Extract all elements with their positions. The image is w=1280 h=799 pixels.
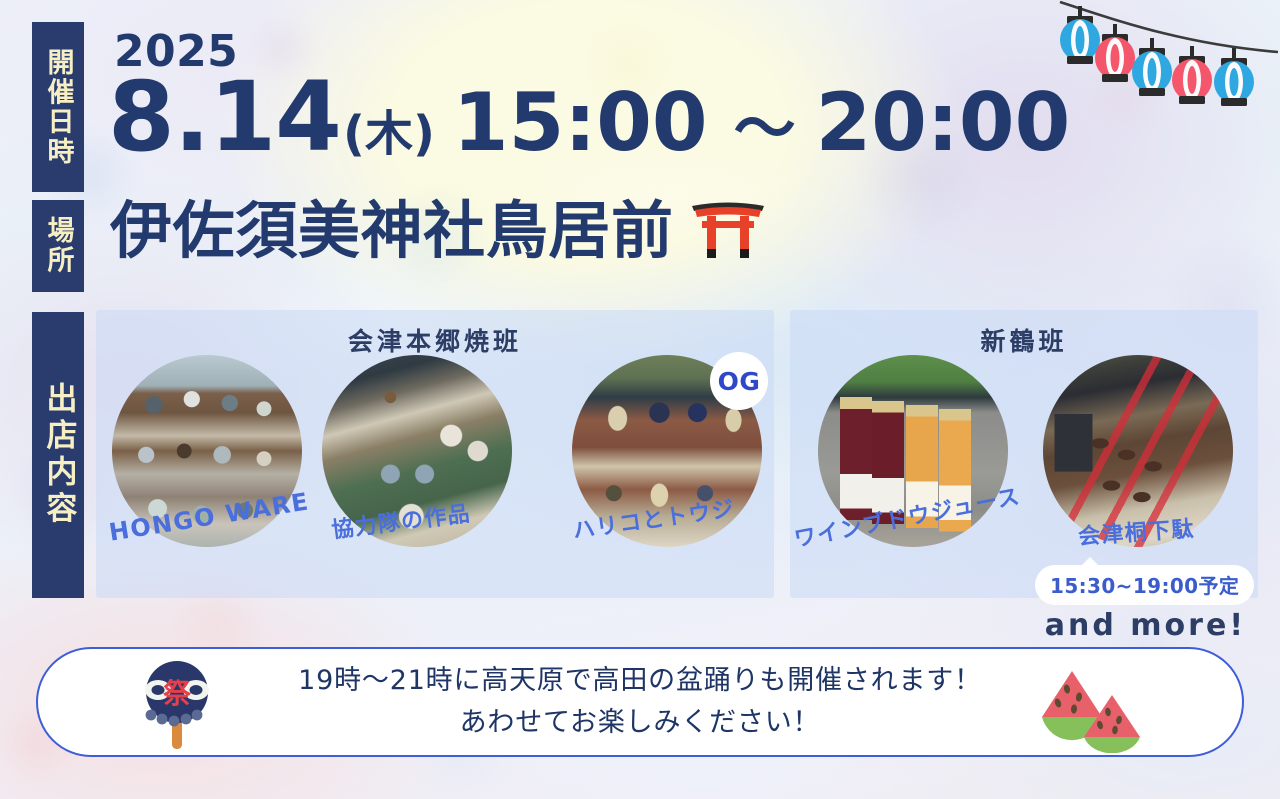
banner-message: 19時〜21時に高天原で高田の盆踊りも開催されます！ あわせてお楽しみください！	[298, 660, 982, 744]
uchiwa-fan-matsuri-icon: 祭	[134, 659, 220, 755]
svg-text:祭: 祭	[163, 677, 192, 710]
event-time-start: 15:00	[453, 83, 708, 163]
event-datetime-row: 8.14 (木) 15:00 〜 20:00	[108, 72, 1070, 163]
panel-title-niitsuru: 新鶴班	[790, 322, 1258, 358]
banner-line-1: 19時〜21時に高天原で高田の盆踊りも開催されます！	[298, 665, 982, 696]
label-vendors: 出店内容	[32, 312, 84, 598]
panel-title-hongo: 会津本郷焼班	[96, 322, 774, 358]
watermelon-slice-icon	[1036, 667, 1164, 757]
and-more-text: and more!	[1045, 608, 1246, 643]
torii-gate-icon	[690, 198, 766, 264]
event-poster: 開催日時 場所 出店内容 2025 8.14 (木) 15:00 〜 20:00…	[0, 0, 1280, 799]
label-datetime: 開催日時	[32, 22, 84, 192]
label-place: 場所	[32, 200, 84, 292]
vendor-time-badge: 15:30~19:00予定	[1035, 565, 1254, 605]
og-badge: OG	[710, 352, 768, 410]
event-place: 伊佐須美神社鳥居前	[110, 200, 674, 262]
event-date: 8.14	[108, 72, 341, 163]
event-day-of-week: (木)	[343, 110, 435, 158]
event-time-separator: 〜	[734, 98, 796, 160]
banner-line-2: あわせてお楽しみください！	[298, 702, 982, 744]
info-banner: 祭 19時〜21時に高天原で高田の盆踊りも開催されます！ あわせてお楽しみくださ…	[36, 647, 1244, 757]
event-place-row: 伊佐須美神社鳥居前	[110, 198, 766, 264]
paper-lantern-string-icon	[1030, 0, 1280, 135]
